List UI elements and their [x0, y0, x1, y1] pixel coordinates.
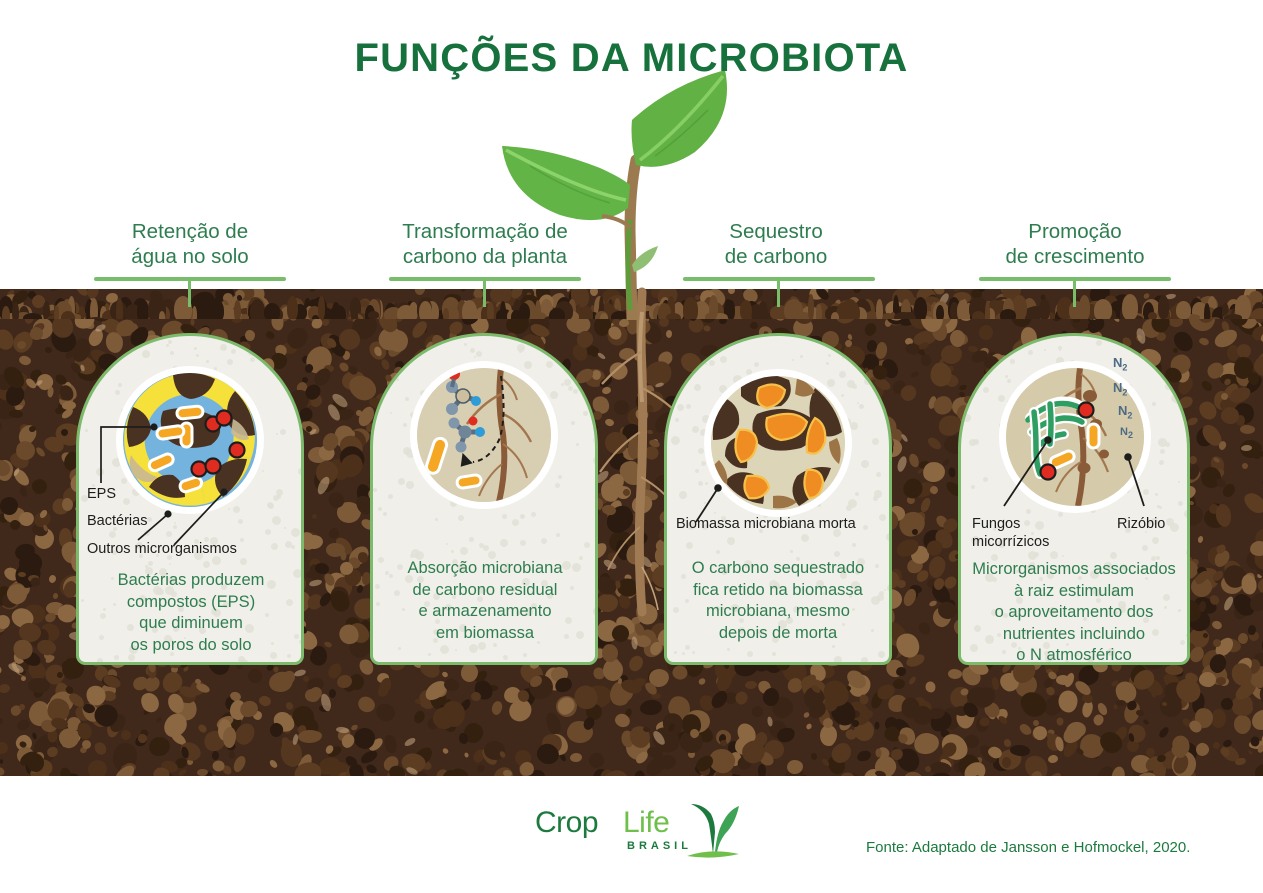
- callout-label-line: micorrízicos: [972, 533, 1049, 551]
- logo-crop-text: Crop: [535, 806, 598, 840]
- header-transformacao: Transformação de carbono da planta: [370, 219, 600, 269]
- body-line: os poros do solo: [86, 635, 296, 657]
- body-line: e armazenamento: [380, 601, 590, 623]
- logo-life-text: Life: [623, 806, 669, 840]
- body-line: de carbono residual: [380, 580, 590, 602]
- body-line: depois de morta: [672, 623, 884, 645]
- callout-label-biomassa: Biomassa microbiana morta: [676, 515, 856, 533]
- sprout-icon: [685, 802, 741, 860]
- logo-brasil-text: BRASIL: [627, 840, 692, 852]
- n2-label: N2: [1113, 380, 1127, 398]
- n2-label: N2: [1118, 403, 1132, 421]
- body-line: em biomassa: [380, 623, 590, 645]
- body-promocao: Microrganismos associados à raiz estimul…: [960, 559, 1188, 667]
- header-line-1: Transformação de: [370, 219, 600, 244]
- body-line: microbiana, mesmo: [672, 601, 884, 623]
- callout-label-line: Fungos: [972, 515, 1049, 533]
- page-title: FUNÇÕES DA MICROBIOTA: [0, 36, 1263, 81]
- callout-label-rizobio: Rizóbio: [1117, 515, 1165, 533]
- body-line: compostos (EPS): [86, 592, 296, 614]
- header-line-1: Sequestro: [665, 219, 887, 244]
- body-line: Bactérias produzem: [86, 570, 296, 592]
- body-line: à raiz estimulam: [960, 581, 1188, 603]
- n2-label: N2: [1113, 355, 1127, 373]
- bubble-transformacao: [417, 368, 551, 502]
- body-line: Absorção microbiana: [380, 558, 590, 580]
- source-attribution: Fonte: Adaptado de Jansson e Hofmockel, …: [866, 839, 1190, 856]
- header-line-2: água no solo: [80, 244, 300, 269]
- infographic-root: FUNÇÕES DA MICROBIOTA Retenção de água n…: [0, 0, 1263, 893]
- body-line: nutrientes incluindo: [960, 624, 1188, 646]
- callout-label-outros: Outros microrganismos: [87, 540, 237, 558]
- callout-lines-promocao: [958, 425, 1198, 525]
- header-line-2: de carbono: [665, 244, 887, 269]
- header-drop-1: [188, 277, 191, 307]
- header-retencao: Retenção de água no solo: [80, 219, 300, 269]
- header-line-1: Promoção: [962, 219, 1188, 244]
- body-sequestro: O carbono sequestrado fica retido na bio…: [672, 558, 884, 644]
- header-line-1: Retenção de: [80, 219, 300, 244]
- callout-label-eps: EPS: [87, 485, 116, 503]
- callout-label-bacterias: Bactérias: [87, 512, 147, 530]
- body-transformacao: Absorção microbiana de carbono residual …: [380, 558, 590, 644]
- header-drop-4: [1073, 277, 1076, 307]
- body-line: o aproveitamento dos: [960, 602, 1188, 624]
- header-line-2: carbono da planta: [370, 244, 600, 269]
- body-retencao: Bactérias produzem compostos (EPS) que d…: [86, 570, 296, 656]
- body-line: o N atmosférico: [960, 645, 1188, 667]
- header-line-2: de crescimento: [962, 244, 1188, 269]
- body-line: que diminuem: [86, 613, 296, 635]
- callout-label-fungos: Fungos micorrízicos: [972, 515, 1049, 551]
- header-drop-3: [777, 277, 780, 307]
- header-drop-2: [483, 277, 486, 307]
- header-promocao: Promoção de crescimento: [962, 219, 1188, 269]
- seedling-illustration: [480, 60, 780, 320]
- body-line: O carbono sequestrado: [672, 558, 884, 580]
- croplife-logo: Crop Life BRASIL: [527, 800, 737, 862]
- body-line: fica retido na biomassa: [672, 580, 884, 602]
- n2-label: N2: [1120, 426, 1133, 440]
- body-line: Microrganismos associados: [960, 559, 1188, 581]
- header-sequestro: Sequestro de carbono: [665, 219, 887, 269]
